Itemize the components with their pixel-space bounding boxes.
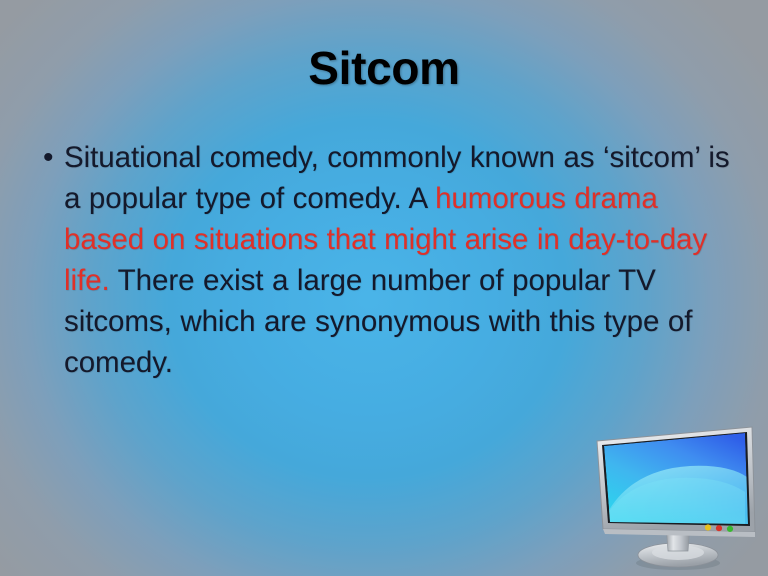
- indicator-led-green: [727, 526, 733, 532]
- indicator-led-yellow: [705, 524, 711, 530]
- slide-body: • Situational comedy, commonly known as …: [38, 137, 738, 383]
- bullet-list-item: • Situational comedy, commonly known as …: [38, 137, 738, 383]
- bullet-paragraph: Situational comedy, commonly known as ‘s…: [64, 137, 738, 383]
- slide-title: Sitcom: [0, 44, 768, 92]
- paragraph-segment-trailing: There exist a large number of popular TV…: [64, 264, 692, 379]
- indicator-led-red: [716, 525, 722, 531]
- bullet-point-icon: •: [38, 137, 64, 178]
- monitor-screen: [600, 433, 753, 528]
- computer-monitor-icon: [585, 424, 763, 570]
- presentation-slide: Sitcom • Situational comedy, commonly kn…: [0, 0, 768, 576]
- monitor-illustration: [585, 424, 763, 570]
